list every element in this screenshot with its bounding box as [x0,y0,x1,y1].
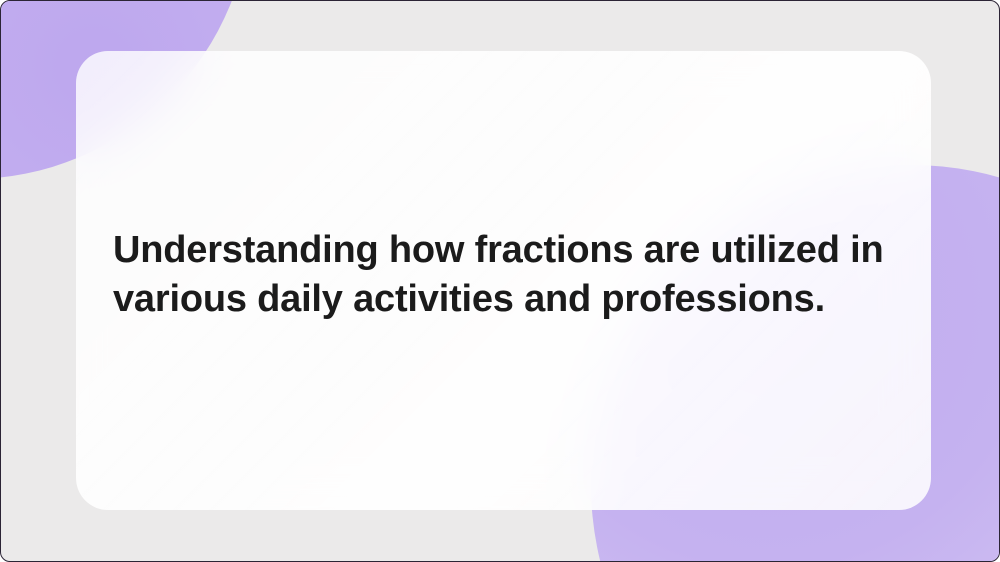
content-card: Understanding how fractions are utilized… [76,51,931,510]
content-card-inner: Understanding how fractions are utilized… [76,232,931,330]
slide-canvas: Understanding how fractions are utilized… [0,0,1000,562]
slide-body-text: Understanding how fractions are utilized… [113,226,903,324]
